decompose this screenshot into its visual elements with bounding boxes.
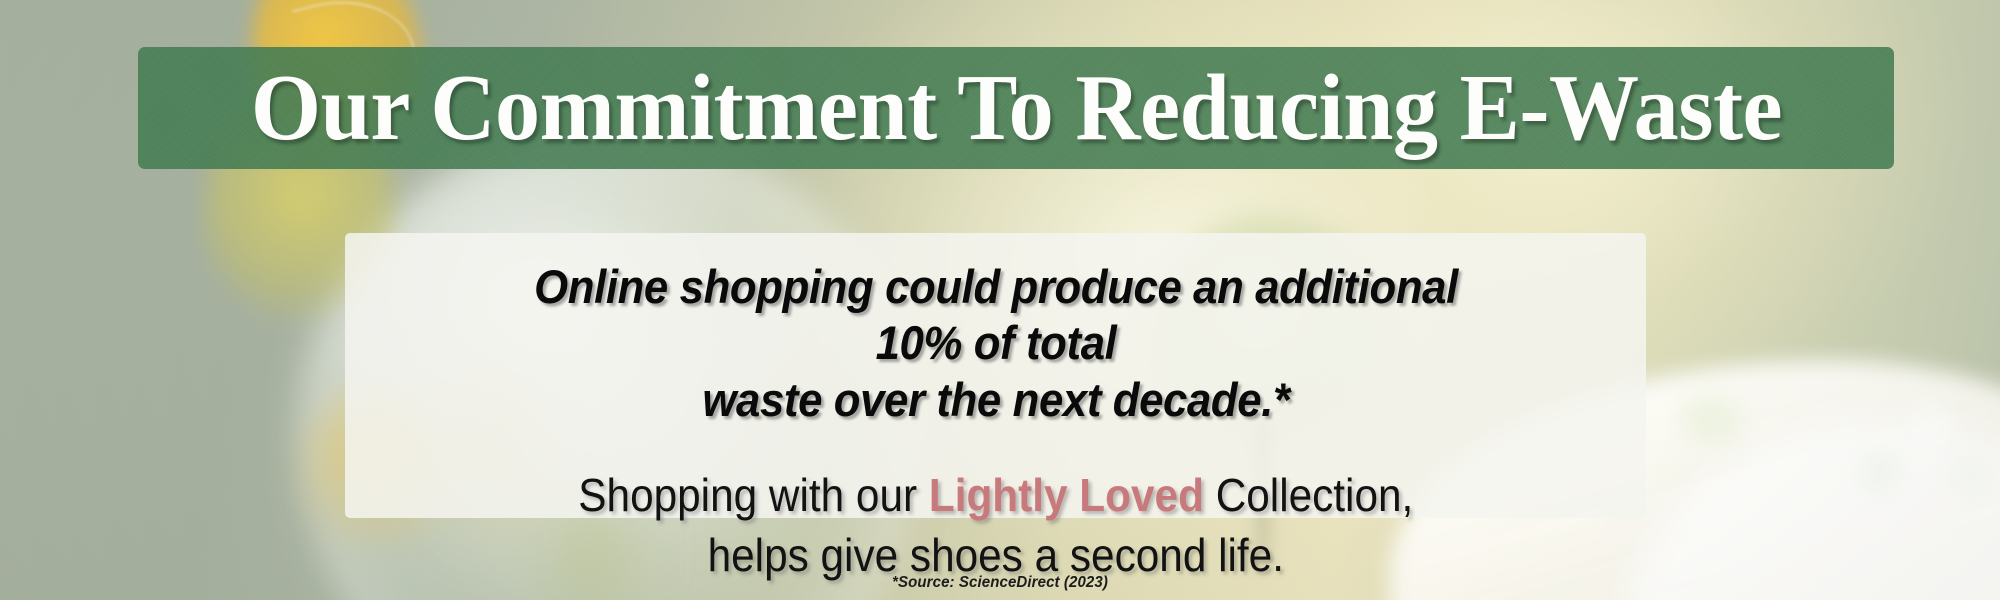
page-title: Our Commitment To Reducing E-Waste: [250, 61, 1781, 155]
promo-prefix: Shopping with our: [578, 469, 929, 521]
statistic-text: Online shopping could produce an additio…: [531, 259, 1461, 428]
statistic-line-1: Online shopping could produce an additio…: [534, 260, 1458, 369]
ewaste-promo-banner: Our Commitment To Reducing E-Waste Onlin…: [0, 0, 2000, 600]
statistic-line-2: waste over the next decade.*: [702, 373, 1289, 426]
promo-suffix: Collection,: [1204, 469, 1413, 521]
promo-text: Shopping with our Lightly Loved Collecti…: [578, 466, 1413, 586]
source-footnote: *Source: ScienceDirect (2023): [60, 574, 1940, 592]
message-card: Online shopping could produce an additio…: [345, 233, 1646, 518]
title-banner: Our Commitment To Reducing E-Waste: [138, 47, 1894, 169]
lightly-loved-collection-link[interactable]: Lightly Loved: [929, 469, 1204, 521]
